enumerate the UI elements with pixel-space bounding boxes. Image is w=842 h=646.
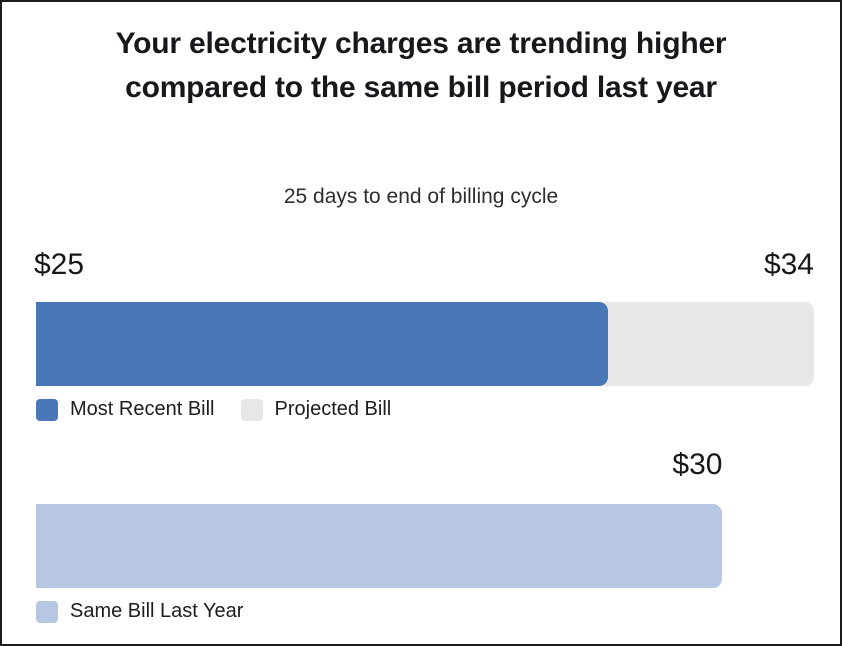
value-label-projected-bill: $34 bbox=[764, 248, 814, 282]
legend-item-projected-bill: Projected Bill bbox=[241, 398, 392, 421]
legend-item-most-recent-bill: Most Recent Bill bbox=[36, 398, 215, 421]
legend-label-projected-bill: Projected Bill bbox=[275, 398, 392, 421]
legend-label-most-recent-bill: Most Recent Bill bbox=[70, 398, 215, 421]
bar-segment-same-bill-last-year bbox=[36, 504, 722, 588]
value-label-most-recent-bill: $25 bbox=[34, 248, 84, 282]
bar-segment-most-recent-bill bbox=[36, 302, 608, 386]
legend-label-same-bill-last-year: Same Bill Last Year bbox=[70, 600, 243, 623]
legend-swatch-icon-same-bill-last-year bbox=[36, 601, 58, 623]
card-inner: Your electricity charges are trending hi… bbox=[2, 2, 840, 644]
billing-cycle-subtitle: 25 days to end of billing cycle bbox=[42, 185, 800, 209]
legend-current-cycle: Most Recent Bill Projected Bill bbox=[36, 398, 417, 421]
value-label-row-last-year: $30 bbox=[2, 446, 840, 490]
value-label-same-bill-last-year: $30 bbox=[672, 448, 722, 482]
stacked-bar-current-cycle bbox=[36, 302, 814, 386]
page-title: Your electricity charges are trending hi… bbox=[62, 22, 780, 111]
value-label-row-current: $25 $34 bbox=[2, 246, 840, 290]
bar-last-year bbox=[36, 504, 722, 588]
chart-group-last-year: $30 Same Bill Last Year bbox=[2, 446, 840, 628]
legend-last-year: Same Bill Last Year bbox=[36, 600, 269, 623]
legend-item-same-bill-last-year: Same Bill Last Year bbox=[36, 600, 243, 623]
legend-swatch-icon-most-recent-bill bbox=[36, 399, 58, 421]
chart-group-current-cycle: $25 $34 Most Recent Bill Projected Bill bbox=[2, 246, 840, 422]
bill-comparison-card: Your electricity charges are trending hi… bbox=[0, 0, 842, 646]
legend-swatch-icon-projected-bill bbox=[241, 399, 263, 421]
